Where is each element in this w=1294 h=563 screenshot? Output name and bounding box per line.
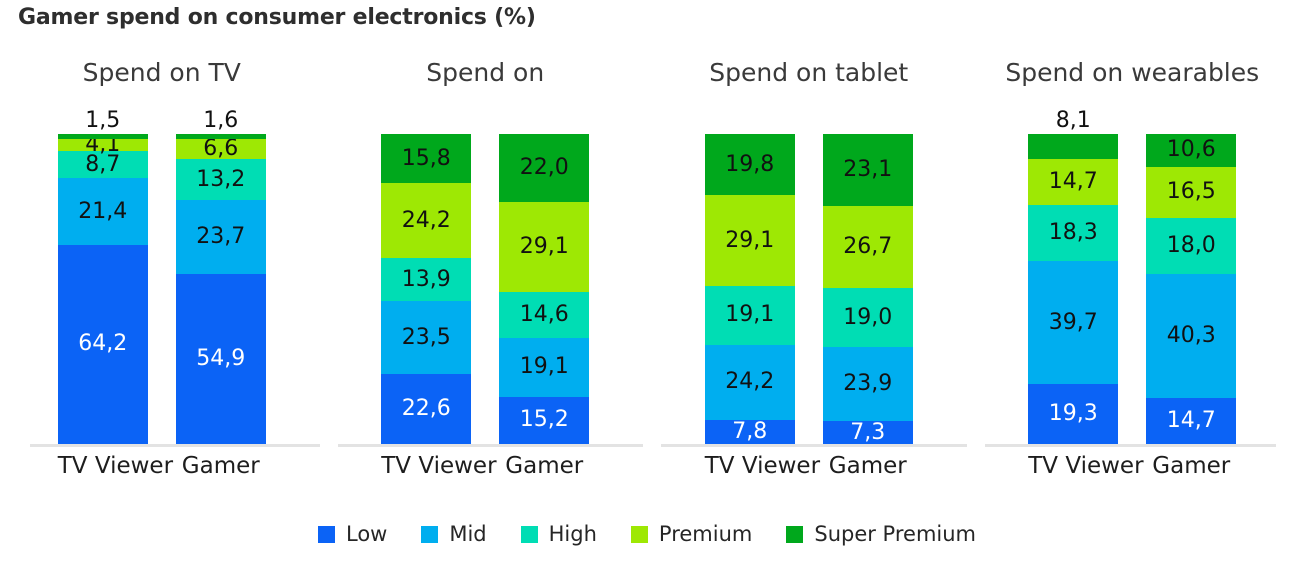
legend-item-low[interactable]: Low [318, 522, 387, 546]
category-labels: TV ViewerGamer [647, 453, 971, 479]
legend-label: Low [346, 522, 387, 546]
segment-value-label: 14,6 [520, 304, 569, 326]
category-label: TV Viewer [58, 453, 148, 479]
stacked-bar[interactable]: 22,623,513,924,215,8 [381, 134, 471, 444]
segment-value-label: 22,6 [402, 398, 451, 420]
plot-area: 64,221,48,74,11,554,923,713,26,61,6 [0, 134, 324, 444]
segment-value-label: 19,0 [843, 307, 892, 329]
legend-swatch-icon [318, 526, 335, 543]
bar-segment-mid[interactable]: 23,7 [176, 200, 266, 273]
panel-title: Spend on tablet [647, 58, 971, 87]
bar-segment-low[interactable]: 7,3 [823, 421, 913, 444]
stacked-bar[interactable]: 64,221,48,74,11,5 [58, 134, 148, 444]
bar-column: 7,824,219,129,119,8 [705, 134, 795, 444]
segment-value-label: 24,2 [725, 371, 774, 393]
segment-value-label: 1,6 [203, 110, 238, 132]
segment-value-label: 22,0 [520, 157, 569, 179]
stacked-bar[interactable]: 54,923,713,26,61,6 [176, 134, 266, 444]
legend-label: Super Premium [814, 522, 976, 546]
bar-segment-super-premium[interactable]: 19,8 [705, 134, 795, 195]
bar-segment-low[interactable]: 7,8 [705, 420, 795, 444]
stacked-bar[interactable]: 15,219,114,629,122,0 [499, 134, 589, 444]
bar-column: 15,219,114,629,122,0 [499, 134, 589, 444]
bar-segment-premium[interactable]: 4,1 [58, 139, 148, 152]
panel-1: Spend on TV64,221,48,74,11,554,923,713,2… [0, 58, 324, 503]
bar-segment-high[interactable]: 19,0 [823, 288, 913, 347]
bar-segment-low[interactable]: 22,6 [381, 374, 471, 444]
bar-segment-mid[interactable]: 40,3 [1146, 274, 1236, 399]
segment-value-label: 14,7 [1167, 410, 1216, 432]
stacked-bar[interactable]: 14,740,318,016,510,6 [1146, 134, 1236, 444]
category-labels: TV ViewerGamer [324, 453, 648, 479]
bar-segment-premium[interactable]: 29,1 [499, 202, 589, 292]
bar-column: 64,221,48,74,11,5 [58, 134, 148, 444]
category-label: Gamer [823, 453, 913, 479]
bar-segment-super-premium[interactable]: 10,6 [1146, 134, 1236, 167]
category-label: Gamer [176, 453, 266, 479]
legend-swatch-icon [631, 526, 648, 543]
axis-baseline [661, 444, 967, 447]
bar-segment-mid[interactable]: 24,2 [705, 345, 795, 420]
bar-segment-high[interactable]: 8,7 [58, 151, 148, 178]
bar-segment-premium[interactable]: 6,6 [176, 139, 266, 159]
bar-segment-super-premium[interactable]: 23,1 [823, 134, 913, 206]
bar-segment-high[interactable]: 13,2 [176, 159, 266, 200]
legend-swatch-icon [421, 526, 438, 543]
bar-column: 14,740,318,016,510,6 [1146, 134, 1236, 444]
segment-value-label: 6,6 [203, 138, 238, 160]
bar-segment-mid[interactable]: 21,4 [58, 178, 148, 244]
segment-value-label: 23,5 [402, 327, 451, 349]
segment-value-label: 24,2 [402, 210, 451, 232]
segment-value-label: 40,3 [1167, 325, 1216, 347]
segment-value-label: 23,1 [843, 159, 892, 181]
legend-label: Mid [449, 522, 486, 546]
bar-segment-premium[interactable]: 14,7 [1028, 159, 1118, 205]
bar-segment-low[interactable]: 19,3 [1028, 384, 1118, 444]
segment-value-label: 14,7 [1049, 171, 1098, 193]
legend-item-mid[interactable]: Mid [421, 522, 486, 546]
segment-value-label: 18,0 [1167, 235, 1216, 257]
axis-baseline [30, 444, 320, 447]
legend-item-super-premium[interactable]: Super Premium [786, 522, 976, 546]
legend-item-premium[interactable]: Premium [631, 522, 752, 546]
segment-value-label: 23,7 [196, 226, 245, 248]
bar-segment-premium[interactable]: 16,5 [1146, 167, 1236, 218]
bar-segment-super-premium[interactable]: 22,0 [499, 134, 589, 202]
bar-segment-low[interactable]: 54,9 [176, 274, 266, 444]
chart-title: Gamer spend on consumer electronics (%) [18, 5, 536, 30]
axis-baseline [338, 444, 644, 447]
panel-title: Spend on [324, 58, 648, 87]
panels-container: Spend on TV64,221,48,74,11,554,923,713,2… [0, 58, 1294, 503]
segment-value-label: 10,6 [1167, 139, 1216, 161]
segment-value-label: 29,1 [520, 236, 569, 258]
bar-segment-low[interactable]: 14,7 [1146, 398, 1236, 444]
segment-value-label: 29,1 [725, 230, 774, 252]
panel-4: Spend on wearables19,339,718,314,78,114,… [971, 58, 1294, 503]
segment-value-label: 8,7 [85, 154, 120, 176]
bar-segment-premium[interactable]: 24,2 [381, 183, 471, 258]
bar-segment-high[interactable]: 18,0 [1146, 218, 1236, 274]
plot-area: 19,339,718,314,78,114,740,318,016,510,6 [971, 134, 1294, 444]
segment-value-label: 13,9 [402, 269, 451, 291]
bar-segment-super-premium[interactable]: 1,6 [176, 134, 266, 139]
category-labels: TV ViewerGamer [0, 453, 324, 479]
panel-3: Spend on tablet7,824,219,129,119,87,323,… [647, 58, 971, 503]
segment-value-label: 21,4 [78, 201, 127, 223]
stacked-bar[interactable]: 7,323,919,026,723,1 [823, 134, 913, 444]
segment-value-label: 19,1 [725, 304, 774, 326]
axis-baseline [985, 444, 1277, 447]
bar-segment-high[interactable]: 13,9 [381, 258, 471, 301]
segment-value-label: 39,7 [1049, 312, 1098, 334]
segment-value-label: 15,2 [520, 409, 569, 431]
bar-segment-high[interactable]: 14,6 [499, 292, 589, 337]
stacked-bar[interactable]: 7,824,219,129,119,8 [705, 134, 795, 444]
segment-value-label: 18,3 [1049, 222, 1098, 244]
bar-segment-super-premium[interactable]: 1,5 [58, 134, 148, 139]
bar-segment-mid[interactable]: 19,1 [499, 338, 589, 397]
segment-value-label: 19,1 [520, 356, 569, 378]
segment-value-label: 23,9 [843, 373, 892, 395]
panel-title: Spend on wearables [971, 58, 1294, 87]
bar-segment-low[interactable]: 15,2 [499, 397, 589, 444]
segment-value-label: 26,7 [843, 236, 892, 258]
segment-value-label: 54,9 [196, 348, 245, 370]
bar-segment-super-premium[interactable]: 8,1 [1028, 134, 1118, 159]
bar-segment-mid[interactable]: 23,9 [823, 347, 913, 421]
segment-value-label: 13,2 [196, 169, 245, 191]
legend-label: Premium [659, 522, 752, 546]
legend-swatch-icon [521, 526, 538, 543]
bar-segment-mid[interactable]: 23,5 [381, 301, 471, 374]
segment-value-label: 7,8 [732, 421, 767, 443]
bar-column: 7,323,919,026,723,1 [823, 134, 913, 444]
bar-segment-high[interactable]: 19,1 [705, 286, 795, 345]
bar-column: 19,339,718,314,78,1 [1028, 134, 1118, 444]
category-label: Gamer [1146, 453, 1236, 479]
segment-value-label: 64,2 [78, 333, 127, 355]
panel-title: Spend on TV [0, 58, 324, 87]
bar-segment-mid[interactable]: 39,7 [1028, 261, 1118, 384]
plot-area: 22,623,513,924,215,815,219,114,629,122,0 [324, 134, 648, 444]
bar-segment-premium[interactable]: 29,1 [705, 195, 795, 285]
segment-value-label: 15,8 [402, 148, 451, 170]
segment-value-label: 19,3 [1049, 403, 1098, 425]
chart-root: Gamer spend on consumer electronics (%) … [0, 0, 1294, 563]
bar-segment-low[interactable]: 64,2 [58, 245, 148, 444]
segment-value-label: 16,5 [1167, 181, 1216, 203]
category-label: TV Viewer [1028, 453, 1118, 479]
legend-label: High [549, 522, 597, 546]
legend-item-high[interactable]: High [521, 522, 597, 546]
legend-swatch-icon [786, 526, 803, 543]
bar-segment-super-premium[interactable]: 15,8 [381, 134, 471, 183]
segment-value-label: 1,5 [85, 110, 120, 132]
segment-value-label: 7,3 [850, 422, 885, 444]
chart-legend: LowMidHighPremiumSuper Premium [0, 522, 1294, 546]
category-label: TV Viewer [381, 453, 471, 479]
bar-column: 54,923,713,26,61,6 [176, 134, 266, 444]
bar-column: 22,623,513,924,215,8 [381, 134, 471, 444]
category-label: Gamer [499, 453, 589, 479]
panel-2: Spend on22,623,513,924,215,815,219,114,6… [324, 58, 648, 503]
plot-area: 7,824,219,129,119,87,323,919,026,723,1 [647, 134, 971, 444]
bar-segment-premium[interactable]: 26,7 [823, 206, 913, 289]
category-labels: TV ViewerGamer [971, 453, 1294, 479]
stacked-bar[interactable]: 19,339,718,314,78,1 [1028, 134, 1118, 444]
bar-segment-high[interactable]: 18,3 [1028, 205, 1118, 262]
segment-value-label: 8,1 [1056, 110, 1091, 132]
segment-value-label: 19,8 [725, 154, 774, 176]
category-label: TV Viewer [705, 453, 795, 479]
